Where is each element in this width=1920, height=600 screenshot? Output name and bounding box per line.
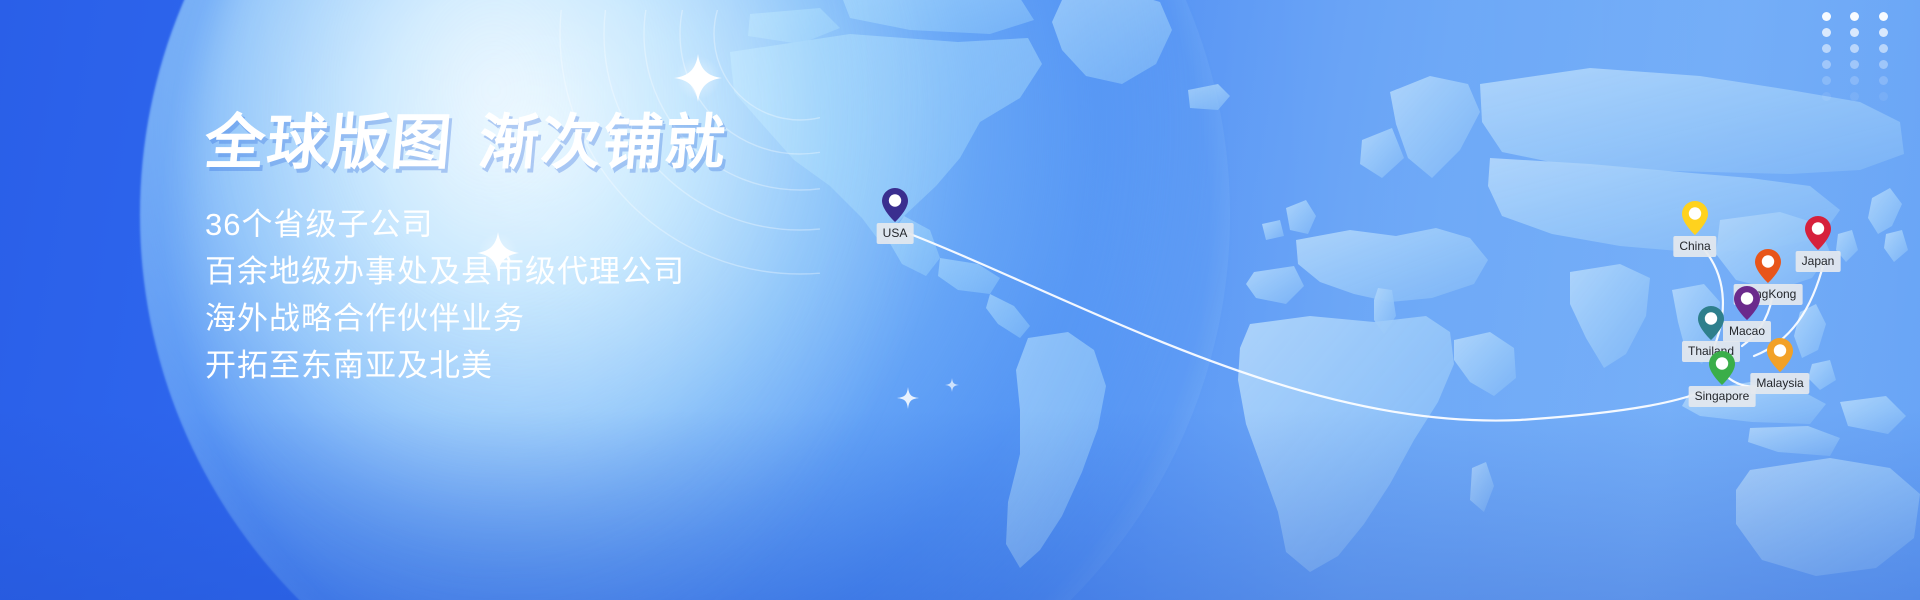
map-marker-hongkong[interactable]: HongKong: [1755, 249, 1781, 283]
subtitle-list: 36个省级子公司 百余地级办事处及县市级代理公司 海外战略合作伙伴业务 开拓至东…: [205, 201, 965, 389]
map-pin-icon: [1734, 286, 1760, 320]
subtitle-line: 开拓至东南亚及北美: [205, 342, 965, 389]
map-marker-label: Malaysia: [1750, 373, 1809, 394]
map-marker-singapore[interactable]: Singapore: [1709, 351, 1735, 385]
subtitle-line: 海外战略合作伙伴业务: [205, 295, 965, 342]
background-bottom-shade: [0, 410, 1920, 600]
headline-part-1: 全球版图: [202, 108, 456, 178]
global-map-banner: 全球版图渐次铺就 36个省级子公司 百余地级办事处及县市级代理公司 海外战略合作…: [0, 0, 1920, 600]
map-pin-icon: [1698, 306, 1724, 340]
map-marker-label: Japan: [1796, 251, 1841, 272]
map-marker-japan[interactable]: Japan: [1805, 216, 1831, 250]
banner-copy: 全球版图渐次铺就 36个省级子公司 百余地级办事处及县市级代理公司 海外战略合作…: [205, 112, 965, 389]
subtitle-line: 36个省级子公司: [205, 201, 965, 248]
subtitle-line: 百余地级办事处及县市级代理公司: [205, 248, 965, 295]
map-marker-label: USA: [877, 223, 914, 244]
map-marker-thailand[interactable]: Thailand: [1698, 306, 1724, 340]
map-marker-label: Macao: [1723, 321, 1771, 342]
map-pin-icon: [1709, 351, 1735, 385]
map-pin-icon: [1682, 201, 1708, 235]
map-marker-macao[interactable]: Macao: [1734, 286, 1760, 320]
map-pin-icon: [1805, 216, 1831, 250]
map-pin-icon: [882, 188, 908, 222]
page-title: 全球版图渐次铺就: [202, 112, 968, 175]
map-pin-icon: [1755, 249, 1781, 283]
map-marker-malaysia[interactable]: Malaysia: [1767, 338, 1793, 372]
map-marker-usa[interactable]: USA: [882, 188, 908, 222]
map-marker-label: China: [1673, 236, 1716, 257]
map-pin-icon: [1767, 338, 1793, 372]
map-marker-label: Singapore: [1689, 386, 1756, 407]
map-marker-china[interactable]: China: [1682, 201, 1708, 235]
headline-part-2: 渐次铺就: [476, 108, 730, 178]
